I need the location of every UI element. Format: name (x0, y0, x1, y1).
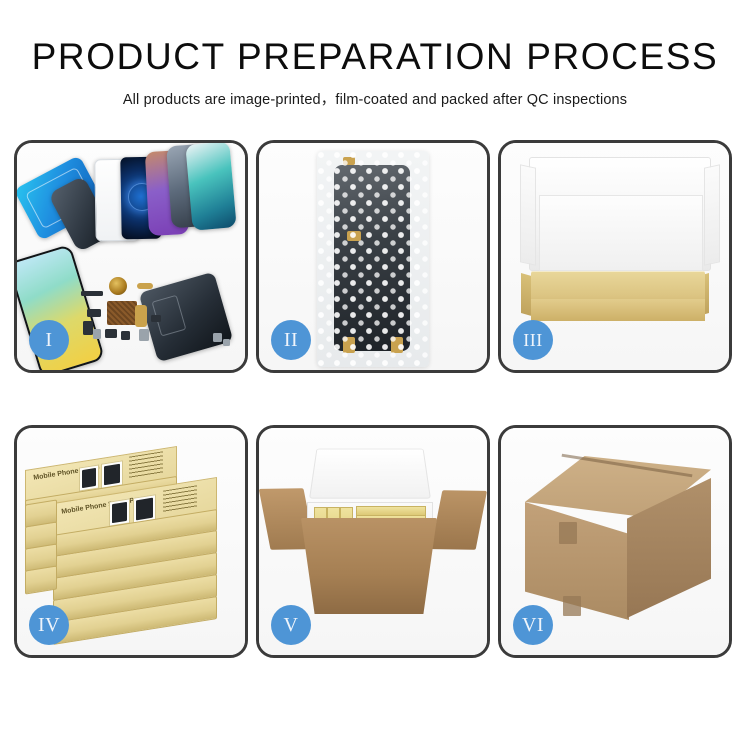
screen-print (82, 468, 96, 488)
step-3-image: III (501, 143, 729, 370)
step-badge-5: V (271, 605, 311, 645)
step-2-image: II (259, 143, 487, 370)
process-step-card-4[interactable]: Mobile Phone Spare Parts Mobile Phone Sp… (14, 425, 248, 658)
screen-print (112, 502, 127, 523)
step-badge-6: VI (513, 605, 553, 645)
step-badge-4: IV (29, 605, 69, 645)
phone-screen-teal-image (185, 141, 236, 231)
page-header: PRODUCT PREPARATION PROCESS All products… (0, 0, 750, 109)
step-5-image: V (259, 428, 487, 655)
step-6-image: VI (501, 428, 729, 655)
foam-lid-image (309, 449, 431, 499)
vibrator-part (105, 329, 117, 338)
button-part (151, 315, 161, 322)
bubble-wrap-bag-image (317, 151, 429, 367)
step-badge-1: I (29, 320, 69, 360)
step-badge-3: III (513, 320, 553, 360)
step-badge-2: II (271, 320, 311, 360)
step-4-image: Mobile Phone Spare Parts Mobile Phone Sp… (17, 428, 245, 655)
speaker-part (121, 331, 130, 340)
logic-board-part (107, 301, 137, 325)
process-step-card-5[interactable]: V (256, 425, 490, 658)
process-step-grid: I II III (14, 140, 736, 658)
kraft-box-front-face (531, 299, 705, 321)
stacked-box (25, 565, 57, 594)
box-window (79, 464, 99, 491)
flex-cable-part (137, 283, 153, 289)
connector-part (87, 309, 101, 317)
carton-tape-tab (563, 596, 581, 616)
small-screw-part (213, 333, 222, 342)
process-step-card-2[interactable]: II (256, 140, 490, 373)
carton-tape-tab (559, 522, 577, 544)
bracket-part (83, 321, 93, 335)
bubble-texture (317, 151, 429, 367)
carton-body-image (301, 518, 437, 614)
metal-shield-part (93, 329, 101, 339)
page-subtitle: All products are image-printed，film-coat… (0, 88, 750, 109)
camera-lens-part (109, 277, 127, 295)
process-step-card-6[interactable]: VI (498, 425, 732, 658)
screw-kit-part (139, 329, 149, 341)
step-1-image: I (17, 143, 245, 370)
earpiece-part (81, 291, 103, 296)
foam-sheet-image (539, 195, 703, 271)
page-title: PRODUCT PREPARATION PROCESS (0, 38, 750, 77)
screen-print (104, 464, 120, 486)
flex-cable-part (135, 305, 147, 327)
process-step-card-3[interactable]: III (498, 140, 732, 373)
screen-print (136, 498, 153, 521)
small-screw-part (223, 339, 230, 346)
process-step-card-1[interactable]: I (14, 140, 248, 373)
carton-right-flap (431, 490, 487, 550)
